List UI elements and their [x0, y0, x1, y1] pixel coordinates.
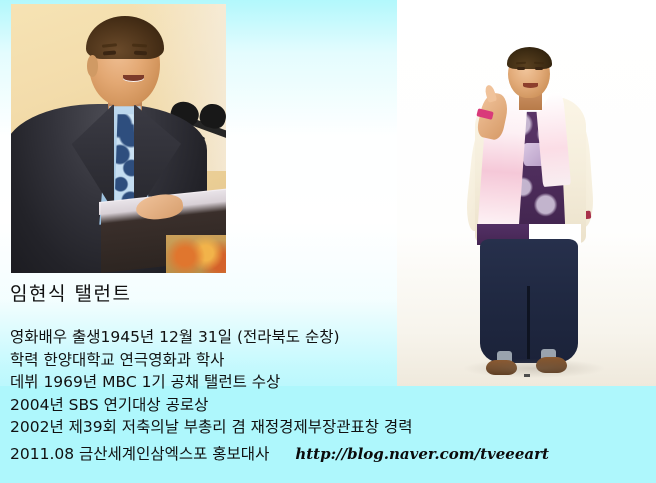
bio-line: 2011.08 금산세계인삼엑스포 홍보대사: [10, 443, 269, 466]
photo-speaking-at-podium: [11, 4, 226, 273]
flower-arrangement: [166, 235, 226, 273]
profile-text-block: 임현식 탤런트 영화배우 출생1945년 12월 31일 (전라북도 순창) 학…: [10, 282, 650, 465]
page-title: 임현식 탤런트: [10, 282, 650, 306]
eye: [517, 67, 525, 69]
bio-line-final-row: 2011.08 금산세계인삼엑스포 홍보대사 http://blog.naver…: [10, 443, 650, 466]
slide-canvas: 임현식 탤런트 영화배우 출생1945년 12월 31일 (전라북도 순창) 학…: [0, 0, 656, 483]
bio-line: 2004년 SBS 연기대상 공로상: [10, 394, 650, 417]
bio-line: 영화배우 출생1945년 12월 31일 (전라북도 순창): [10, 326, 650, 349]
eye: [535, 67, 543, 69]
bio-line: 학력 한양대학교 연극영화과 학사: [10, 349, 650, 372]
blog-url-link[interactable]: http://blog.naver.com/tveeeart: [295, 443, 549, 466]
bio-line: 데뷔 1969년 MBC 1기 공채 탤런트 수상: [10, 371, 650, 394]
eye: [133, 51, 146, 56]
bio-line: 2002년 제39회 저축의날 부총리 겸 재정경제부장관표창 경력: [10, 416, 650, 439]
ear: [87, 55, 98, 77]
bio-list: 영화배우 출생1945년 12월 31일 (전라북도 순창) 학력 한양대학교 …: [10, 326, 650, 465]
